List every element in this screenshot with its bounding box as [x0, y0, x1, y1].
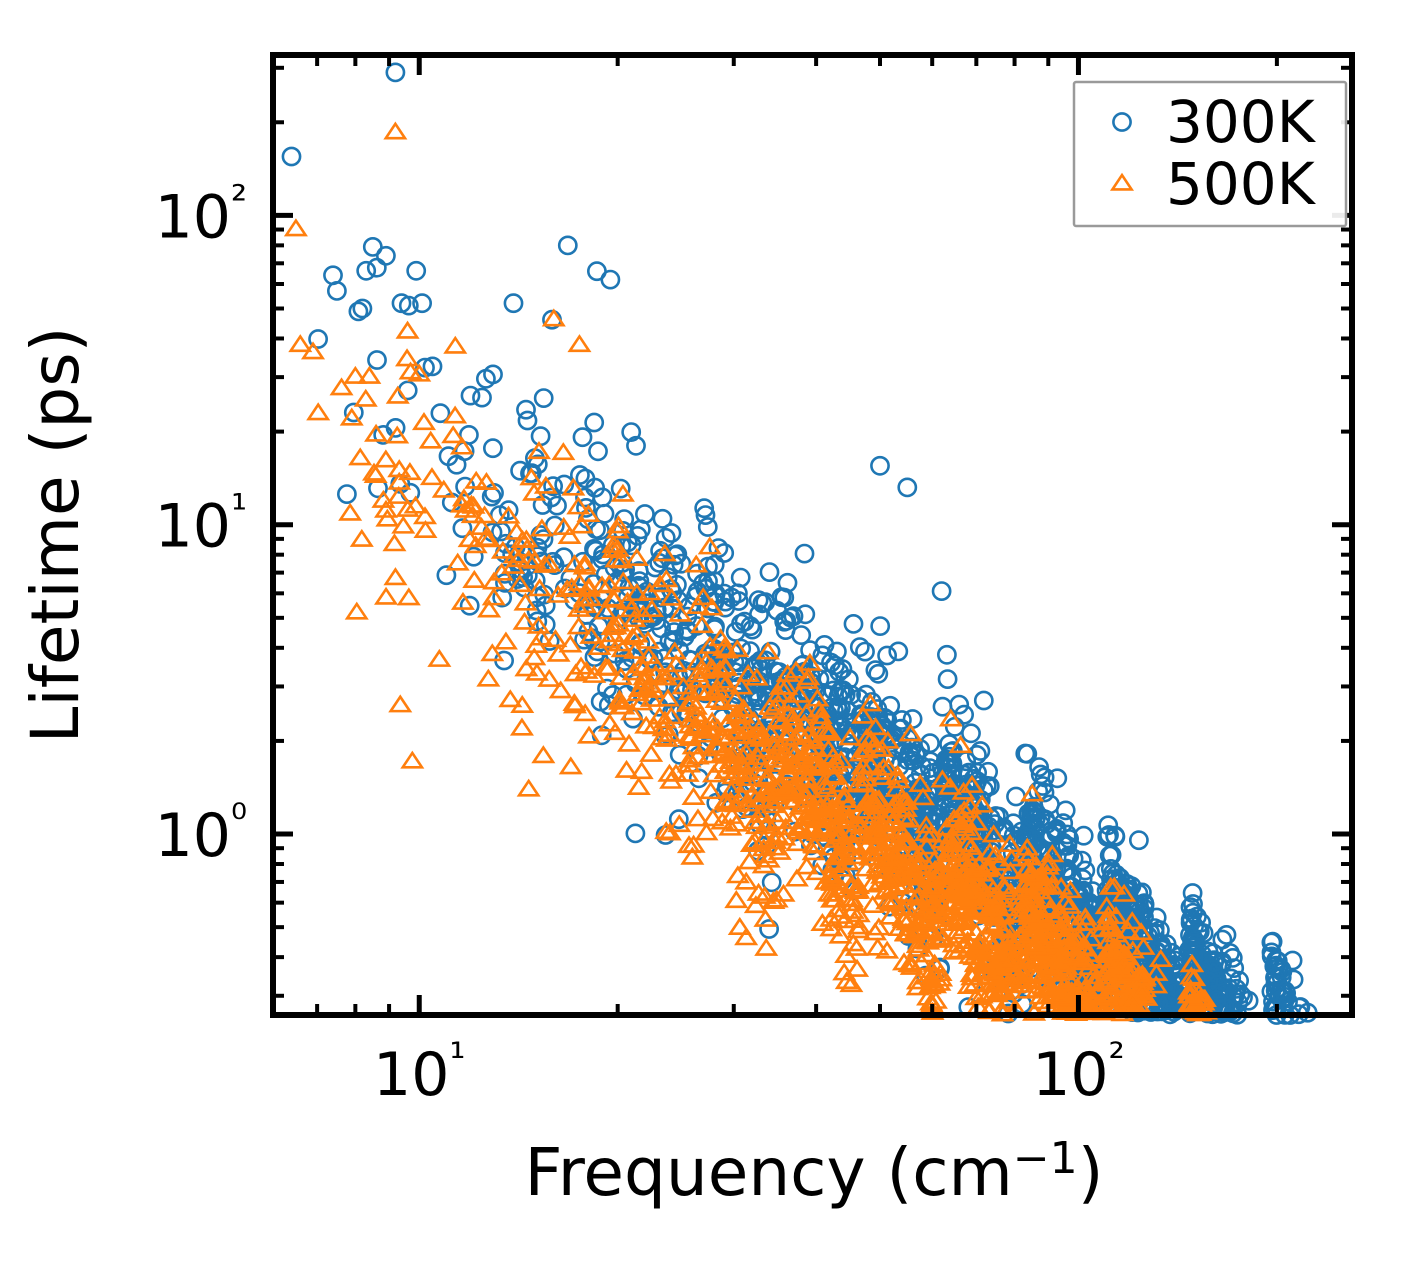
data-point: [559, 237, 576, 254]
data-point: [589, 443, 606, 460]
x-axis-ticklabels: 10¹10²: [373, 1035, 1125, 1110]
data-point: [654, 510, 671, 527]
data-point: [385, 536, 404, 550]
data-point: [951, 696, 968, 713]
data-point: [519, 781, 538, 795]
data-point: [532, 428, 549, 445]
data-point: [851, 639, 868, 656]
data-point: [732, 569, 749, 586]
data-point: [757, 940, 776, 954]
data-point: [416, 522, 435, 536]
x-ticklabel-100: 10²: [1032, 1035, 1124, 1110]
data-point: [939, 671, 956, 688]
data-point: [388, 388, 407, 402]
data-point: [338, 486, 355, 503]
x-axis-label-base: Frequency (cm: [525, 1134, 1013, 1211]
data-point: [352, 531, 371, 545]
y-axis-ticklabels: 10⁰10¹10²: [155, 177, 247, 871]
data-point: [642, 746, 661, 760]
data-point: [391, 697, 410, 711]
data-point: [737, 930, 756, 944]
figure-canvas: 10¹10² 10⁰10¹10² Frequency (cm−1) Lifeti…: [0, 0, 1408, 1265]
data-point: [408, 262, 425, 279]
x-axis-label: Frequency (cm−1): [525, 1133, 1104, 1211]
data-point: [356, 391, 375, 405]
y-axis-label-text: Lifetime (ps): [17, 327, 94, 744]
data-point: [899, 479, 916, 496]
data-point: [328, 282, 345, 299]
data-point: [422, 469, 441, 483]
y-ticklabel-10: 10¹: [155, 487, 247, 562]
data-point: [699, 518, 716, 535]
data-point: [890, 643, 907, 660]
data-point: [309, 405, 328, 419]
data-point: [727, 892, 746, 906]
data-point: [398, 323, 417, 337]
data-point: [291, 336, 310, 350]
scatter-plot: 10¹10² 10⁰10¹10² Frequency (cm−1) Lifeti…: [0, 0, 1408, 1265]
data-point: [975, 692, 992, 709]
x-ticklabel-10: 10¹: [373, 1035, 465, 1110]
data-point: [505, 295, 522, 312]
data-point: [360, 368, 379, 382]
data-point: [535, 390, 552, 407]
data-point: [484, 440, 501, 457]
data-point: [414, 414, 433, 428]
legend-label-500K: 500K: [1166, 150, 1317, 218]
data-point: [399, 590, 418, 604]
data-point: [496, 634, 515, 648]
data-point: [283, 148, 300, 165]
data-point: [465, 572, 484, 586]
data-point: [399, 382, 416, 399]
data-point: [386, 124, 405, 138]
data-point: [756, 911, 775, 925]
data-point: [446, 338, 465, 352]
data-point: [933, 583, 950, 600]
data-point: [517, 401, 534, 418]
data-point: [501, 692, 520, 706]
data-point: [872, 618, 889, 635]
data-point: [286, 221, 305, 235]
data-point: [1007, 788, 1024, 805]
data-point: [387, 64, 404, 81]
data-point: [358, 262, 375, 279]
data-point: [368, 351, 385, 368]
data-point: [554, 444, 573, 458]
data-point: [403, 753, 422, 767]
data-point: [377, 247, 394, 264]
data-point: [946, 718, 963, 735]
data-point: [561, 759, 580, 773]
x-axis-label-close: ): [1078, 1134, 1104, 1211]
data-point: [386, 570, 405, 584]
y-ticklabel-100: 10²: [155, 177, 247, 252]
legend-label-300K: 300K: [1166, 88, 1317, 156]
data-point: [347, 604, 366, 618]
data-point: [602, 271, 619, 288]
data-point: [341, 505, 360, 519]
data-point: [962, 725, 979, 742]
data-point: [376, 589, 395, 603]
data-point: [856, 643, 873, 660]
data-point: [938, 646, 955, 663]
data-point: [761, 920, 778, 937]
data-point: [879, 647, 896, 664]
data-point: [534, 747, 553, 761]
legend[interactable]: 300K500K: [1074, 82, 1346, 226]
data-point: [684, 789, 703, 803]
data-point: [430, 651, 449, 665]
data-point: [570, 336, 589, 350]
data-point: [512, 720, 531, 734]
data-point: [871, 457, 888, 474]
data-point: [351, 450, 370, 464]
data-point: [761, 564, 778, 581]
y-ticklabel-1: 10⁰: [155, 796, 247, 871]
data-point: [586, 414, 603, 431]
data-point: [376, 452, 395, 466]
data-point: [1218, 926, 1235, 943]
data-point: [636, 505, 653, 522]
data-point: [473, 389, 490, 406]
data-point: [574, 429, 591, 446]
svg-text:Frequency (cm−1): Frequency (cm−1): [525, 1133, 1104, 1211]
data-point: [629, 779, 648, 793]
data-point: [479, 671, 498, 685]
data-point: [845, 615, 862, 632]
data-point: [796, 545, 813, 562]
x-axis-label-superscript: −1: [1013, 1133, 1078, 1184]
data-point: [617, 762, 636, 776]
y-axis-label: Lifetime (ps): [17, 327, 94, 744]
data-point: [368, 259, 385, 276]
data-point: [1130, 832, 1147, 849]
data-point: [627, 825, 644, 842]
data-point: [921, 735, 938, 752]
data-point: [421, 433, 440, 447]
data-point: [397, 351, 416, 365]
